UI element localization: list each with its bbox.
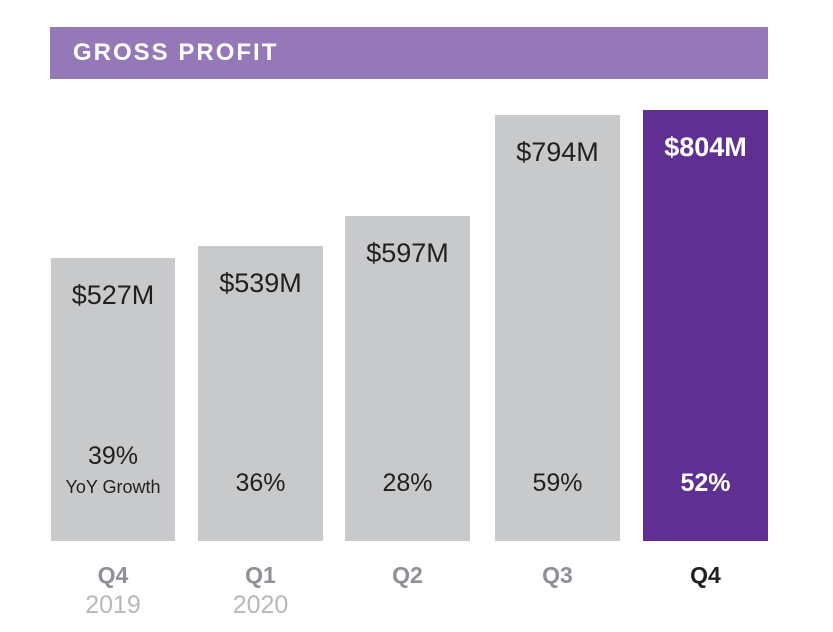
bar-q3-2020: $794M 59% <box>495 115 620 541</box>
bar-growth-label: 39% <box>51 442 175 471</box>
bar-value-label: $597M <box>345 238 470 269</box>
bar-growth-label: 36% <box>198 469 323 498</box>
bar-value-label: $539M <box>198 268 323 299</box>
axis-label-group-2: Q1 2020 <box>198 560 323 620</box>
axis-label-group-3: Q2 <box>345 560 470 590</box>
bar-growth-label: 52% <box>643 469 768 498</box>
bar-q1-2020: $539M 36% <box>198 246 323 541</box>
axis-label-group-4: Q3 <box>495 560 620 590</box>
axis-quarter-label: Q2 <box>345 560 470 590</box>
axis-label-group-1: Q4 2019 <box>51 560 175 620</box>
bar-growth-caption: YoY Growth <box>37 477 189 498</box>
axis-quarter-label: Q3 <box>495 560 620 590</box>
gross-profit-chart-slide: GROSS PROFIT $527M 39% YoY Growth $539M … <box>0 0 833 632</box>
bar-value-label: $804M <box>643 132 768 163</box>
axis-year-label: 2020 <box>198 590 323 620</box>
bar-growth-label: 59% <box>495 469 620 498</box>
bar-q4-2019: $527M 39% YoY Growth <box>51 258 175 541</box>
bar-q2-2020: $597M 28% <box>345 216 470 541</box>
axis-quarter-label: Q4 <box>643 560 768 590</box>
bar-value-label: $527M <box>51 280 175 311</box>
bar-growth-label: 28% <box>345 469 470 498</box>
axis-year-label: 2019 <box>51 590 175 620</box>
bar-value-label: $794M <box>495 137 620 168</box>
axis-quarter-label: Q4 <box>51 560 175 590</box>
bar-q4-2020: $804M 52% <box>643 110 768 541</box>
axis-quarter-label: Q1 <box>198 560 323 590</box>
axis-label-group-5: Q4 <box>643 560 768 590</box>
plot-area: $527M 39% YoY Growth $539M 36% $597M 28%… <box>0 0 833 632</box>
